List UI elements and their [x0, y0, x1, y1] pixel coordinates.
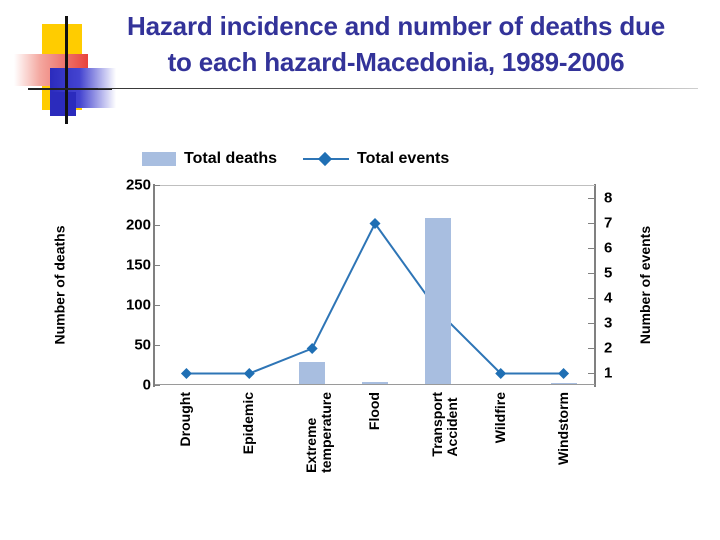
y-axis-right-tick-label: 1 [604, 364, 624, 381]
x-axis-category-label: Drought [178, 392, 193, 446]
x-axis-category-label: Wildfire [493, 392, 508, 443]
bar-total-deaths [299, 362, 325, 384]
page-title: Hazard incidence and number of deaths du… [80, 8, 712, 80]
y-axis-left-title-text: Number of deaths [51, 225, 67, 344]
y-axis-right-title-text: Number of events [637, 226, 653, 344]
y-axis-left-tick-label: 50 [105, 337, 151, 354]
y-axis-left-title: Number of deaths [48, 185, 70, 385]
y-axis-right-tick-label: 2 [604, 339, 624, 356]
total-events-polyline [186, 224, 563, 374]
total-events-marker [558, 368, 569, 379]
bar-total-deaths [551, 383, 577, 385]
y-axis-right-tick-mark [588, 273, 595, 274]
y-axis-left-ticks: 050100150200250 [95, 185, 151, 385]
y-axis-right-tick-mark [588, 323, 595, 324]
legend-item-total-deaths: Total deaths [142, 150, 277, 168]
legend-label-total-deaths: Total deaths [184, 150, 277, 168]
y-axis-right-tick-label: 6 [604, 239, 624, 256]
total-events-marker [244, 368, 255, 379]
legend-item-total-events: Total events [303, 150, 449, 168]
y-axis-left-tick-label: 0 [105, 377, 151, 394]
y-axis-left-tick-label: 250 [105, 177, 151, 194]
y-axis-right-tick-label: 7 [604, 214, 624, 231]
bar-total-deaths [362, 382, 388, 384]
y-axis-left-tick-mark [153, 305, 160, 306]
chart-plot-area [155, 185, 595, 385]
y-axis-right-tick-mark [588, 348, 595, 349]
y-axis-left-tick-mark [153, 345, 160, 346]
y-axis-left-tick-label: 100 [105, 297, 151, 314]
bar-total-deaths [425, 218, 451, 384]
y-axis-right-tick-mark [588, 298, 595, 299]
title-rule [98, 88, 698, 89]
y-axis-right-tick-label: 8 [604, 189, 624, 206]
y-axis-right-tick-label: 5 [604, 264, 624, 281]
y-axis-right-tick-mark [588, 198, 595, 199]
x-axis-category-label: Epidemic [241, 392, 256, 454]
x-axis-category-label: Windstorm [556, 392, 571, 465]
x-axis-category-label: Flood [367, 392, 382, 430]
x-axis-category-labels: DroughtEpidemicExtreme temperatureFloodT… [155, 392, 595, 522]
logo-blue-square-small [50, 92, 76, 116]
logo-vertical-line [65, 16, 68, 124]
page-title-line1: Hazard incidence and number of deaths du… [127, 11, 665, 41]
y-axis-left-tick-mark [153, 385, 160, 386]
y-axis-right-tick-mark [588, 373, 595, 374]
x-axis-category-label: Transport Accident [430, 392, 460, 457]
y-axis-right-tick-mark [588, 248, 595, 249]
total-events-marker [181, 368, 192, 379]
legend-line-marker-icon [303, 152, 349, 166]
legend-label-total-events: Total events [357, 150, 449, 168]
page-title-line2: to each hazard-Macedonia, 1989-2006 [80, 44, 712, 80]
y-axis-left-tick-label: 200 [105, 217, 151, 234]
y-axis-right-tick-label: 3 [604, 314, 624, 331]
total-events-line-series [155, 186, 595, 386]
total-events-marker [307, 343, 318, 354]
y-axis-right-tick-label: 4 [604, 289, 624, 306]
y-axis-left-tick-mark [153, 185, 160, 186]
chart-legend: Total deaths Total events [142, 150, 449, 168]
y-axis-right-ticks: 12345678 [604, 185, 628, 385]
legend-swatch-icon [142, 152, 176, 166]
y-axis-left-tick-mark [153, 265, 160, 266]
y-axis-right-title: Number of events [634, 185, 656, 385]
y-axis-left-tick-mark [153, 225, 160, 226]
y-axis-left-tick-label: 150 [105, 257, 151, 274]
y-axis-right-tick-mark [588, 223, 595, 224]
x-axis-category-label: Extreme temperature [304, 392, 334, 473]
